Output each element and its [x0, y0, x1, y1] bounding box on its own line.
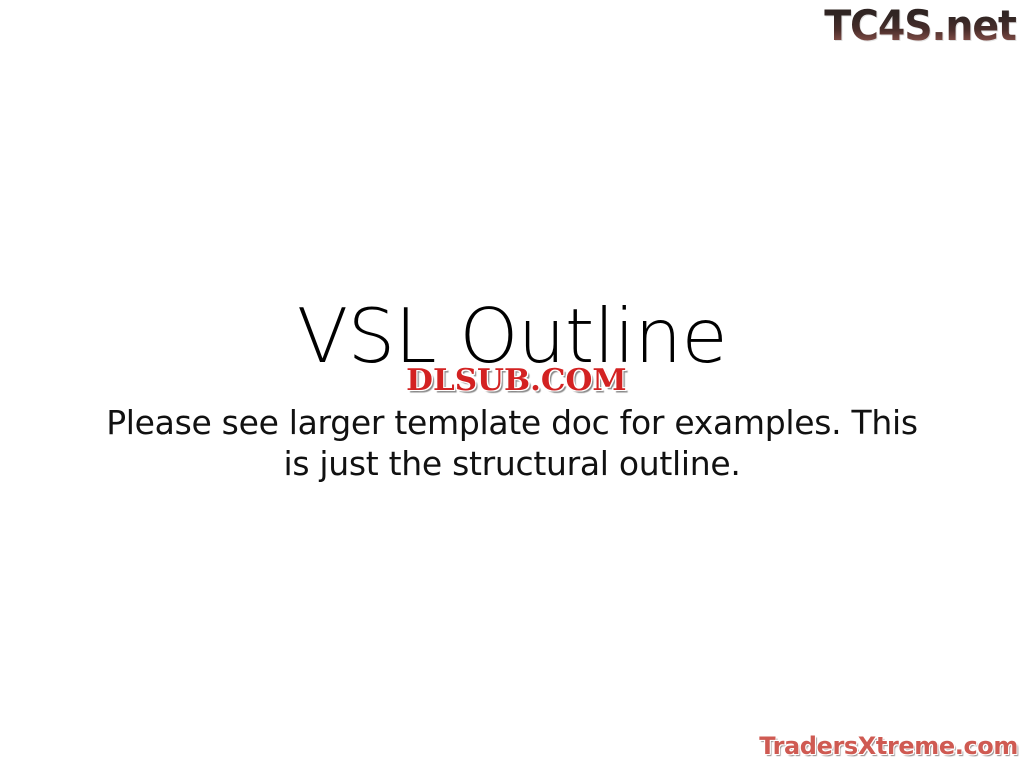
presentation-slide: VSL Outline Please see larger template d…	[0, 0, 1024, 768]
watermark-dlsub-com: DLSUB.COM	[366, 364, 667, 398]
watermark-tc4s-net: TC4S.net	[824, 2, 1016, 50]
watermark-tradersxtreme-com: TradersXtreme.com	[759, 732, 1018, 760]
slide-subtitle: Please see larger template doc for examp…	[92, 402, 932, 484]
